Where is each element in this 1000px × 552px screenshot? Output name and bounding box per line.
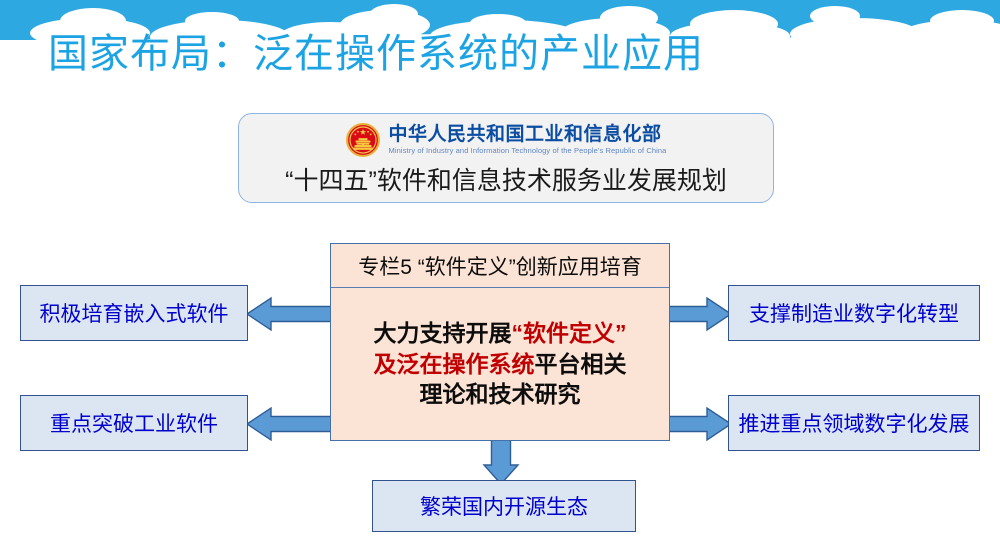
- slide-canvas: 国家布局：泛在操作系统的产业应用: [0, 0, 1000, 552]
- arrow-left-lower-icon: [246, 406, 334, 442]
- ministry-name-block: 中华人民共和国工业和信息化部 Ministry of Industry and …: [389, 125, 667, 155]
- body-part-1: “软件定义”: [512, 320, 627, 346]
- policy-document-card: 中华人民共和国工业和信息化部 Ministry of Industry and …: [238, 113, 774, 203]
- body-part-4: 理论和技术研究: [420, 381, 581, 407]
- outcome-box-label: 重点突破工业软件: [50, 408, 218, 438]
- body-part-2: 及泛在操作系统: [374, 351, 535, 377]
- cloud-shape: [470, 14, 526, 32]
- center-box-header: 专栏5 “软件定义”创新应用培育: [331, 244, 669, 288]
- policy-plan-title: “十四五”软件和信息技术服务业发展规划: [239, 161, 773, 197]
- body-part-3: 平台相关: [535, 351, 627, 377]
- arrow-bottom-icon: [482, 439, 520, 485]
- outcome-box-label: 支撑制造业数字化转型: [749, 298, 959, 328]
- page-title: 国家布局：泛在操作系统的产业应用: [48, 32, 704, 76]
- body-part-0: 大力支持开展: [374, 320, 512, 346]
- outcome-box-embedded-software[interactable]: 积极培育嵌入式软件: [20, 285, 248, 341]
- center-highlight-box: 专栏5 “软件定义”创新应用培育 大力支持开展“软件定义”及泛在操作系统平台相关…: [330, 243, 670, 441]
- outcome-box-key-field-digital-development[interactable]: 推进重点领域数字化发展: [728, 395, 980, 451]
- ministry-name-en: Ministry of Industry and Information Tec…: [389, 147, 667, 155]
- outcome-box-manufacturing-digital-transformation[interactable]: 支撑制造业数字化转型: [728, 285, 980, 341]
- arrow-left-upper-icon: [246, 296, 334, 332]
- cloud-shape: [600, 6, 658, 30]
- ministry-header: 中华人民共和国工业和信息化部 Ministry of Industry and …: [239, 114, 773, 158]
- china-national-emblem-icon: [346, 123, 380, 157]
- outcome-box-label: 繁荣国内开源生态: [420, 491, 588, 521]
- ministry-name-cn: 中华人民共和国工业和信息化部: [389, 125, 667, 145]
- outcome-box-industrial-software[interactable]: 重点突破工业软件: [20, 395, 248, 451]
- cloud-shape: [930, 10, 994, 32]
- outcome-box-label: 积极培育嵌入式软件: [40, 298, 229, 328]
- cloud-shape: [810, 6, 860, 26]
- cloud-shape: [370, 4, 418, 24]
- outcome-box-label: 推进重点领域数字化发展: [739, 408, 970, 438]
- outcome-box-open-source-ecosystem[interactable]: 繁荣国内开源生态: [372, 480, 636, 532]
- cloud-shape: [60, 8, 126, 34]
- center-box-body: 大力支持开展“软件定义”及泛在操作系统平台相关理论和技术研究: [331, 288, 669, 440]
- cloud-shape: [185, 12, 239, 30]
- arrow-right-upper-icon: [666, 296, 732, 332]
- center-box-body-text: 大力支持开展“软件定义”及泛在操作系统平台相关理论和技术研究: [374, 318, 627, 409]
- arrow-right-lower-icon: [666, 406, 732, 442]
